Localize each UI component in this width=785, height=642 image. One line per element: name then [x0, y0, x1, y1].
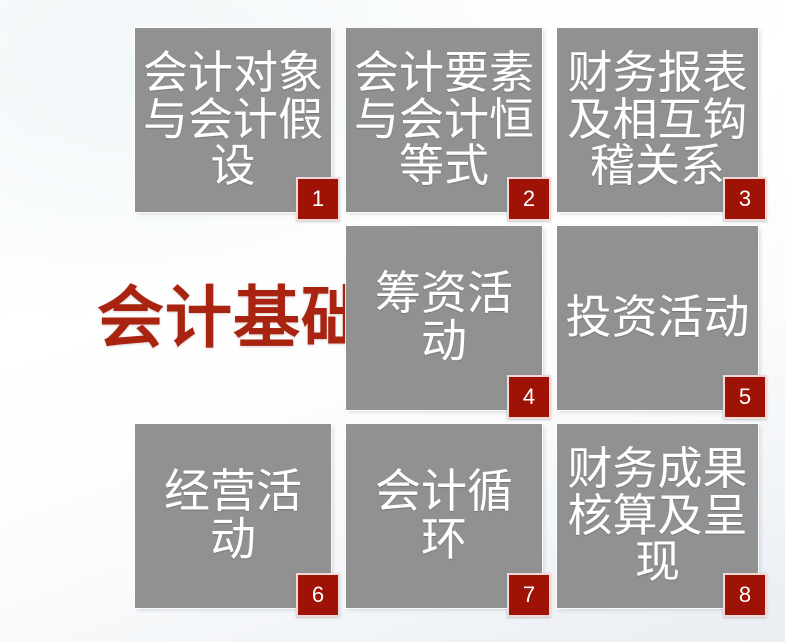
- topic-tile-5-number-badge: 5: [723, 375, 767, 419]
- topic-grid: 会计对象与会计假设 1 会计要素与会计恒等式 2 财务报表及相互钩稽关系 3 会…: [135, 28, 757, 609]
- topic-tile-1-number-badge: 1: [296, 177, 340, 221]
- topic-tile-5-label: 投资活动: [566, 294, 750, 342]
- topic-tile-4[interactable]: 筹资活动 4: [346, 226, 542, 410]
- topic-tile-8-label: 财务成果核算及呈现: [565, 446, 750, 586]
- topic-tile-2-label: 会计要素与会计恒等式: [354, 50, 534, 190]
- topic-tile-7-label: 会计循环: [354, 468, 534, 564]
- topic-tile-7-number-badge: 7: [507, 573, 551, 617]
- slide-canvas: 会计对象与会计假设 1 会计要素与会计恒等式 2 财务报表及相互钩稽关系 3 会…: [0, 0, 785, 642]
- topic-tile-8-number-badge: 8: [723, 573, 767, 617]
- page-title: 会计基础: [97, 285, 369, 352]
- topic-tile-7[interactable]: 会计循环 7: [346, 424, 542, 608]
- topic-tile-5[interactable]: 投资活动 5: [557, 226, 758, 410]
- topic-tile-3[interactable]: 财务报表及相互钩稽关系 3: [557, 28, 758, 212]
- topic-tile-6-number-badge: 6: [296, 573, 340, 617]
- topic-tile-4-number-badge: 4: [507, 375, 551, 419]
- topic-tile-2[interactable]: 会计要素与会计恒等式 2: [346, 28, 542, 212]
- main-title-cell: 会计基础: [135, 226, 331, 410]
- topic-tile-4-label: 筹资活动: [354, 270, 534, 366]
- topic-tile-2-number-badge: 2: [507, 177, 551, 221]
- topic-tile-3-number-badge: 3: [723, 177, 767, 221]
- topic-tile-3-label: 财务报表及相互钩稽关系: [565, 50, 750, 190]
- topic-tile-6-label: 经营活动: [143, 468, 323, 564]
- topic-tile-1[interactable]: 会计对象与会计假设 1: [135, 28, 331, 212]
- topic-tile-6[interactable]: 经营活动 6: [135, 424, 331, 608]
- topic-tile-1-label: 会计对象与会计假设: [143, 50, 323, 190]
- topic-tile-8[interactable]: 财务成果核算及呈现 8: [557, 424, 758, 608]
